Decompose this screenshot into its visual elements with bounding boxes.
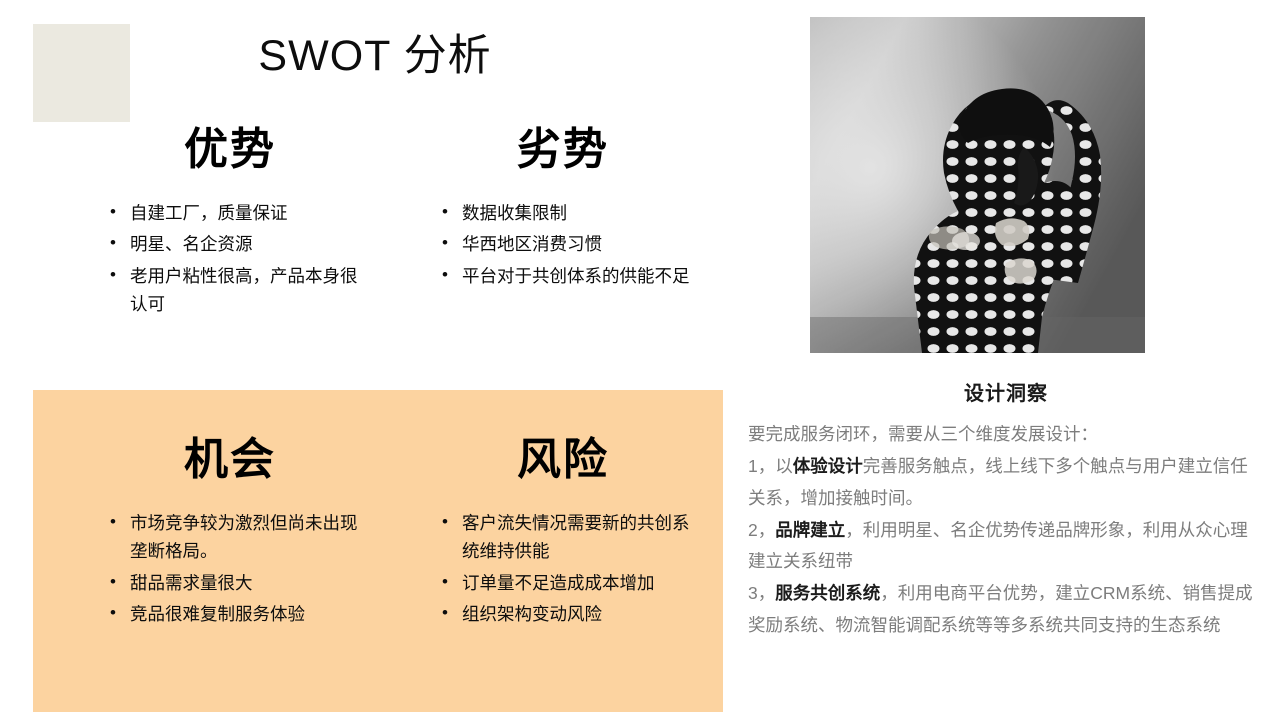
opportunities-list: 市场竞争较为激烈但尚未出现垄断格局。 甜品需求量很大 竞品很难复制服务体验 xyxy=(108,509,366,631)
list-item: 组织架构变动风险 xyxy=(440,600,698,628)
page-title: SWOT 分析 xyxy=(150,32,600,81)
quadrant-heading-threats: 风险 xyxy=(438,438,688,482)
insight-point-1: 1，以体验设计完善服务触点，线上线下多个触点与用户建立信任关系，增加接触时间。 xyxy=(748,451,1264,515)
list-item: 客户流失情况需要新的共创系统维持供能 xyxy=(440,509,698,566)
design-insight-photo xyxy=(810,17,1145,353)
photo-graphic xyxy=(810,17,1145,353)
swot-slide: SWOT 分析 优势 自建工厂，质量保证 明星、名企资源 老用户粘性很高，产品本… xyxy=(0,0,1280,720)
design-insight-body: 要完成服务闭环，需要从三个维度发展设计： 1，以体验设计完善服务触点，线上线下多… xyxy=(748,419,1264,642)
list-item: 竞品很难复制服务体验 xyxy=(108,600,366,628)
list-item: 数据收集限制 xyxy=(440,199,695,227)
quadrant-heading-weaknesses: 劣势 xyxy=(438,128,688,172)
list-item: 老用户粘性很高，产品本身很认可 xyxy=(108,262,358,319)
weaknesses-list: 数据收集限制 华西地区消费习惯 平台对于共创体系的供能不足 xyxy=(440,199,695,293)
insight-point-2-number: 2， xyxy=(748,520,775,540)
list-item: 市场竞争较为激烈但尚未出现垄断格局。 xyxy=(108,509,366,566)
quadrant-heading-strengths: 优势 xyxy=(105,128,355,172)
list-item: 明星、名企资源 xyxy=(108,230,358,258)
insight-point-2-emphasis: 品牌建立 xyxy=(775,520,845,540)
insight-point-3-emphasis: 服务共创系统 xyxy=(775,583,880,603)
insight-point-3: 3，服务共创系统，利用电商平台优势，建立CRM系统、销售提成奖励系统、物流智能调… xyxy=(748,578,1264,642)
threats-list: 客户流失情况需要新的共创系统维持供能 订单量不足造成成本增加 组织架构变动风险 xyxy=(440,509,698,631)
list-item: 订单量不足造成成本增加 xyxy=(440,569,698,597)
design-insight-heading: 设计洞察 xyxy=(748,377,1264,406)
list-item: 华西地区消费习惯 xyxy=(440,230,695,258)
insight-point-2: 2，品牌建立，利用明星、名企优势传递品牌形象，利用从众心理建立关系纽带 xyxy=(748,515,1264,579)
list-item: 甜品需求量很大 xyxy=(108,569,366,597)
insight-point-3-number: 3， xyxy=(748,583,775,603)
quadrant-heading-opportunities: 机会 xyxy=(105,438,355,482)
beige-decoration-block xyxy=(33,24,130,122)
insight-intro: 要完成服务闭环，需要从三个维度发展设计： xyxy=(748,419,1264,451)
insight-point-1-number: 1，以 xyxy=(748,456,793,476)
list-item: 平台对于共创体系的供能不足 xyxy=(440,262,695,290)
strengths-list: 自建工厂，质量保证 明星、名企资源 老用户粘性很高，产品本身很认可 xyxy=(108,199,358,321)
insight-point-1-emphasis: 体验设计 xyxy=(793,456,863,476)
list-item: 自建工厂，质量保证 xyxy=(108,199,358,227)
